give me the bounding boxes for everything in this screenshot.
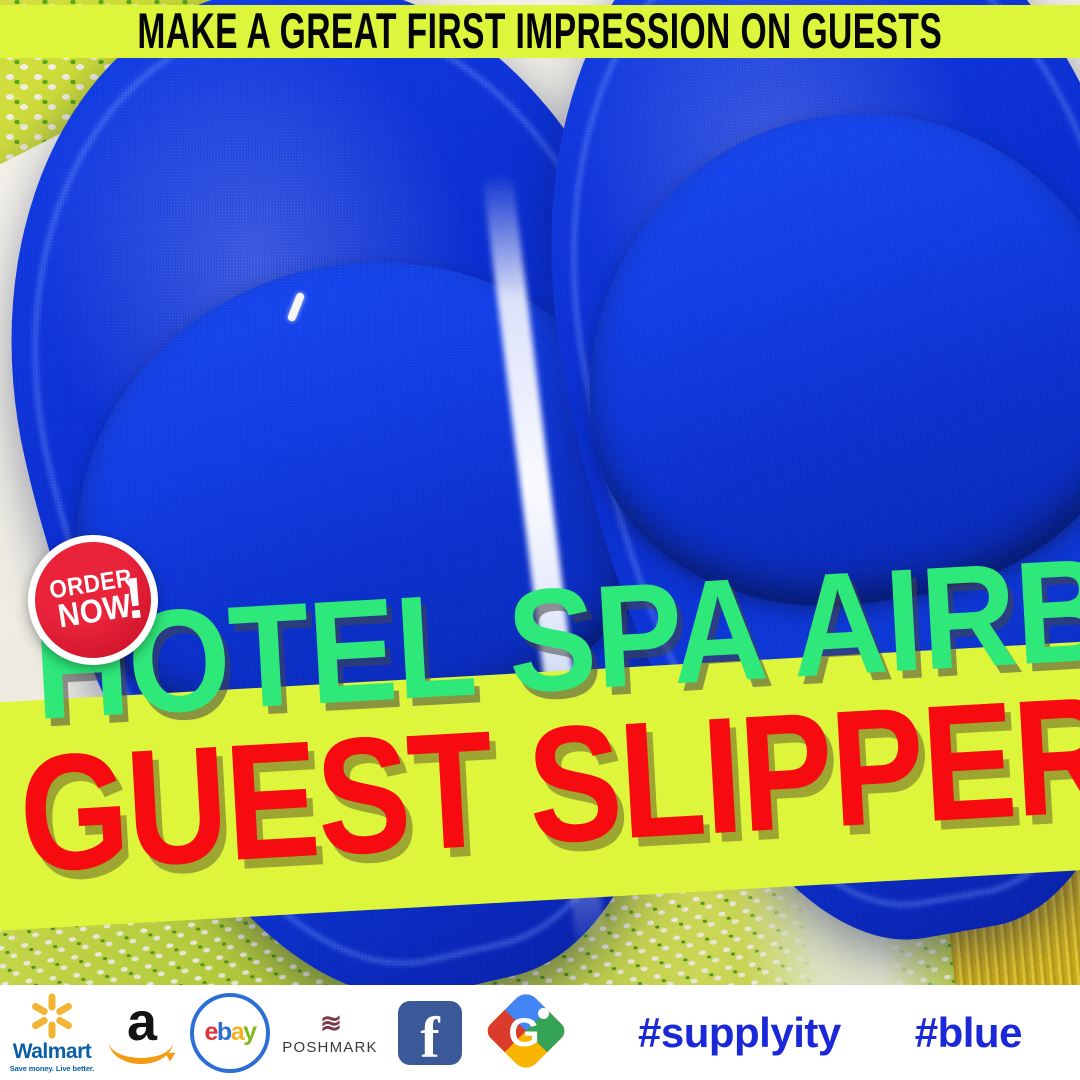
slipper-right-opening <box>646 223 1080 559</box>
walmart-logo[interactable]: Walmart Save money. Live better. <box>6 989 98 1077</box>
ebay-logo[interactable]: ebay <box>184 989 276 1077</box>
walmart-tagline: Save money. Live better. <box>10 1064 95 1073</box>
google-letter-g: G <box>508 1013 539 1053</box>
ebay-wordmark: ebay <box>205 1018 256 1047</box>
google-shopping-tag-icon: G <box>488 997 560 1069</box>
badge-line-2: NOW <box>56 591 134 633</box>
facebook-logo[interactable]: f <box>384 993 476 1073</box>
google-shopping-logo[interactable]: G <box>476 991 572 1075</box>
badge-text: ORDER NOW <box>19 526 168 675</box>
top-banner: MAKE A GREAT FIRST IMPRESSION ON GUESTS <box>0 5 1080 58</box>
walmart-spark-icon <box>29 993 75 1039</box>
amazon-wordmark: a <box>127 1001 155 1044</box>
ebay-letter-b: b <box>217 1018 231 1046</box>
facebook-letter-f: f <box>420 1012 439 1064</box>
ebay-letter-a: a <box>231 1018 243 1046</box>
facebook-square-icon: f <box>398 1001 462 1065</box>
hashtag-blue[interactable]: #blue <box>915 1009 1022 1057</box>
amazon-smile-icon <box>109 1042 173 1064</box>
amazon-logo[interactable]: a <box>98 993 184 1073</box>
ebay-letter-y: y <box>243 1018 255 1046</box>
hashtag-group: #supplyity #blue <box>638 1009 1022 1057</box>
marketplace-bar: Walmart Save money. Live better. a ebay … <box>0 985 1080 1080</box>
order-now-badge[interactable]: ORDER NOW ! <box>28 535 158 665</box>
poshmark-logo[interactable]: ≋ POSHMARK <box>276 993 384 1073</box>
walmart-wordmark: Walmart <box>13 1040 92 1064</box>
google-tag-hole <box>538 1008 549 1019</box>
ebay-letter-e: e <box>205 1018 217 1046</box>
promo-poster: MAKE A GREAT FIRST IMPRESSION ON GUESTS … <box>0 0 1080 1080</box>
hashtag-supplyity[interactable]: #supplyity <box>638 1009 841 1057</box>
marketplace-logos: Walmart Save money. Live better. a ebay … <box>0 989 572 1077</box>
poshmark-wordmark: POSHMARK <box>282 1039 377 1056</box>
poshmark-mark-icon: ≋ <box>320 1010 340 1036</box>
ebay-circle-icon: ebay <box>190 993 270 1073</box>
top-banner-text: MAKE A GREAT FIRST IMPRESSION ON GUESTS <box>138 3 943 60</box>
